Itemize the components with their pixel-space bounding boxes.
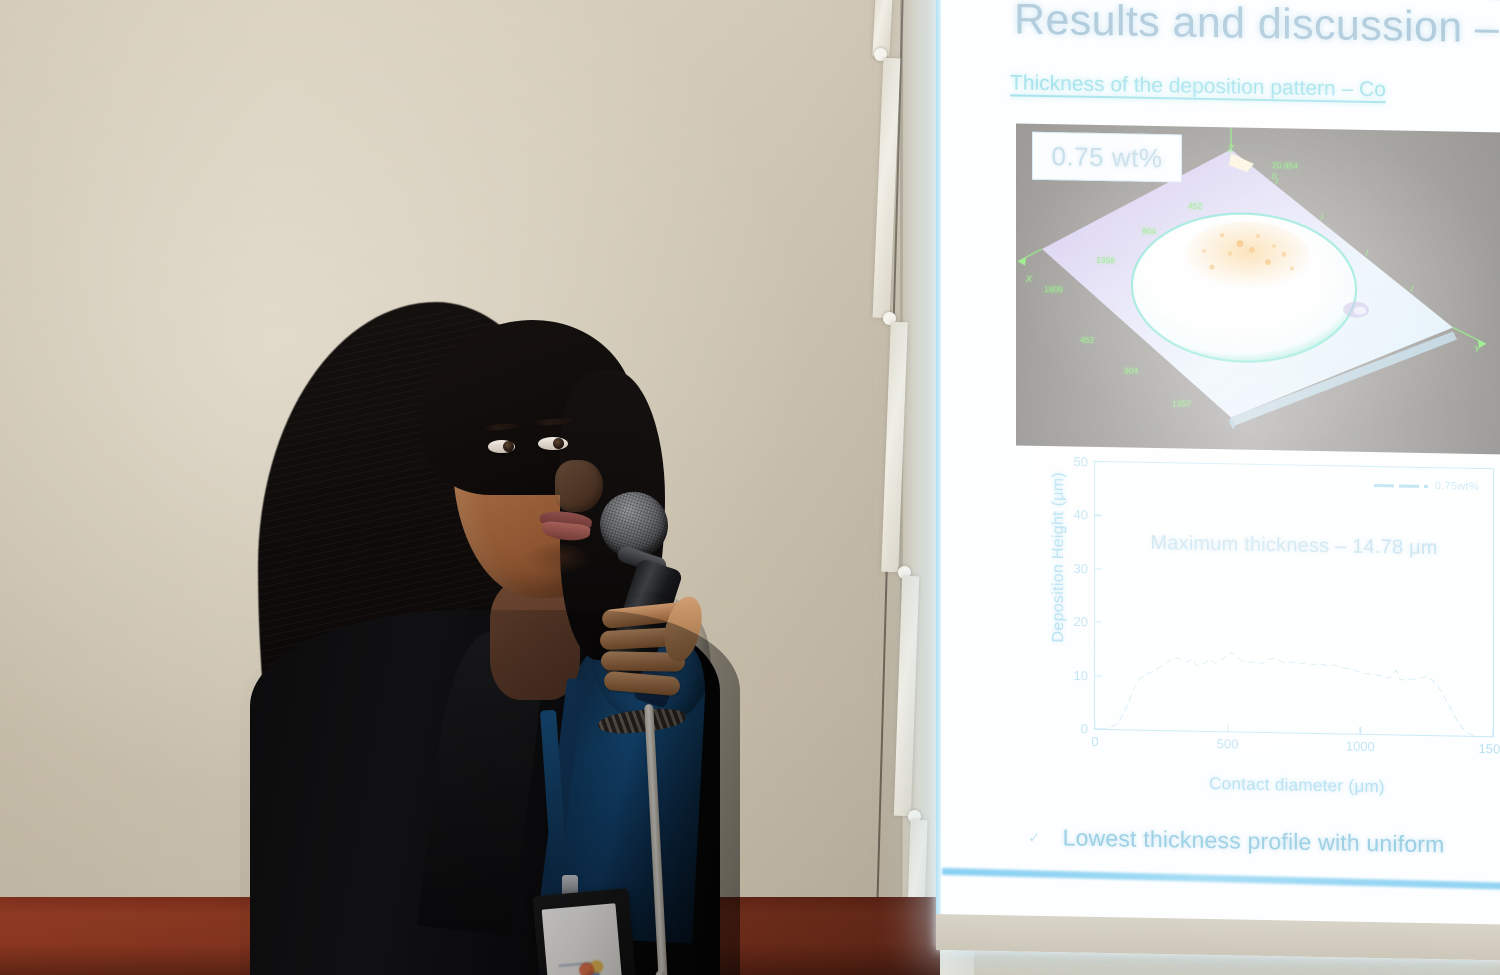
chart-x-tick-label: 0 xyxy=(1091,734,1098,749)
chart-legend: 0.75wt% xyxy=(1374,479,1479,493)
presenter xyxy=(200,280,840,975)
legend-series-label: 0.75wt% xyxy=(1435,480,1479,493)
chart-x-tick-mark xyxy=(1360,727,1361,734)
chart-y-tick-label: 50 xyxy=(1074,454,1088,469)
chart-y-tick-mark xyxy=(1095,461,1102,462)
surface-plot-concentration-label: 0.75 wt% xyxy=(1052,141,1163,174)
chart-y-tick-label: 40 xyxy=(1074,507,1088,522)
projection-screen: Results and discussion – Thickness of th… xyxy=(936,0,1500,960)
chart-y-tick-mark xyxy=(1095,728,1102,729)
chart-x-tick-label: 500 xyxy=(1217,736,1239,751)
slide-subtitle: Thickness of the deposition pattern – Co xyxy=(1010,71,1386,102)
chart-y-tick-mark xyxy=(1095,675,1102,676)
legend-line-swatch xyxy=(1374,483,1428,489)
slide-divider-rule xyxy=(942,868,1500,890)
surface-axis-z-letter: Z xyxy=(1228,143,1234,153)
surface-x-tick-1356: 1356 xyxy=(1096,255,1115,265)
chart-y-axis-label: Deposition Height (μm) xyxy=(1050,452,1068,662)
slide-title: Results and discussion – xyxy=(1014,0,1499,53)
chin-shading xyxy=(520,544,596,588)
badge-card xyxy=(542,903,625,975)
surface-z-max-label: 20.954 xyxy=(1272,160,1298,170)
photo-scene: Results and discussion – Thickness of th… xyxy=(0,0,1500,975)
chart-y-tick-label: 10 xyxy=(1074,668,1088,683)
surface-z-min-label: 0 xyxy=(1272,171,1277,181)
surface-axis-y-letter: Y xyxy=(1474,344,1480,354)
deposition-profile-chart: Deposition Height (μm) Contact diameter … xyxy=(1006,451,1500,805)
chart-series-line xyxy=(1095,462,1493,736)
chart-x-tick-mark xyxy=(1227,724,1228,731)
surface-axis-x-letter: X xyxy=(1026,274,1032,284)
chart-x-tick-label: 1000 xyxy=(1346,739,1375,755)
surface-plot-concentration-badge: 0.75 wt% xyxy=(1032,132,1182,183)
chart-y-tick-label: 20 xyxy=(1074,614,1088,629)
slide-bullet-text: Lowest thickness profile with uniform xyxy=(1063,824,1445,858)
chart-x-tick-mark xyxy=(1094,722,1095,729)
chart-plot-area: 0 10 20 30 xyxy=(1094,461,1494,737)
surface-y-tick-1357: 1357 xyxy=(1172,398,1191,408)
screen-surface: Results and discussion – Thickness of th… xyxy=(936,0,1500,960)
slide-bullet: ✓ Lowest thickness profile with uniform xyxy=(1028,824,1445,859)
surface-x-tick-904: 904 xyxy=(1142,226,1156,236)
chart-y-tick-label: 30 xyxy=(1074,561,1088,576)
name-badge xyxy=(532,888,639,975)
chart-y-tick-label: 0 xyxy=(1081,721,1088,736)
iris-left xyxy=(503,441,514,452)
chart-x-axis-label: Contact diameter (μm) xyxy=(1094,772,1500,799)
surface-y-tick-904: 904 xyxy=(1124,365,1138,375)
surface-y-tick-452: 452 xyxy=(1080,335,1094,345)
chart-y-tick-mark xyxy=(1095,621,1102,622)
chart-x-tick-mark xyxy=(1492,729,1493,736)
chart-y-tick-mark xyxy=(1095,515,1102,516)
checkmark-icon: ✓ xyxy=(1028,828,1041,846)
screen-left-edge xyxy=(936,0,941,950)
iris-right xyxy=(553,438,564,449)
surface-x-tick-452: 452 xyxy=(1188,201,1202,211)
chart-x-tick-label: 1500 xyxy=(1479,741,1500,757)
surface-x-tick-1809: 1809 xyxy=(1044,284,1063,294)
chart-y-tick-mark xyxy=(1095,568,1102,569)
surface-plot-3d: 0.75 wt% Z Y X 20.954 0 452 904 1356 180… xyxy=(1016,123,1500,454)
presentation-slide: Results and discussion – Thickness of th… xyxy=(942,0,1500,925)
badge-logo xyxy=(576,956,610,975)
